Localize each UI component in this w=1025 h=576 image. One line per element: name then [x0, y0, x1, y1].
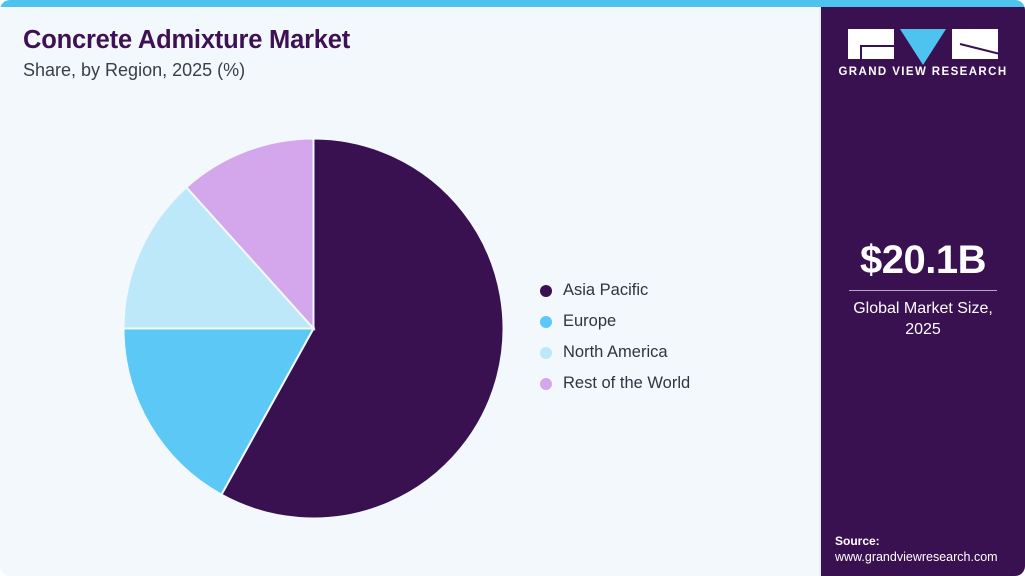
source-label: Source: [835, 534, 1017, 548]
logo-wordmark: GRAND VIEW RESEARCH [821, 66, 1025, 78]
legend-item-europe[interactable]: Europe [540, 306, 800, 337]
legend-swatch-asia-pacific [540, 285, 552, 297]
infographic-card: Concrete Admixture Market Share, by Regi… [0, 0, 1025, 576]
stat-caption: Global Market Size, 2025 [835, 299, 1011, 341]
pie-chart-svg [123, 138, 504, 519]
letter-v-triangle-icon [900, 29, 946, 65]
stat-value: $20.1B [835, 239, 1011, 281]
legend-swatch-rest-of-the-world [540, 378, 552, 390]
source-url[interactable]: www.grandviewresearch.com [835, 550, 1017, 564]
legend-label-north-america: North America [563, 343, 668, 362]
page-subtitle: Share, by Region, 2025 (%) [23, 60, 783, 82]
legend-item-rest-of-the-world[interactable]: Rest of the World [540, 368, 800, 399]
brand-panel: GRAND VIEW RESEARCH $20.1B Global Market… [819, 7, 1025, 576]
pie-chart [123, 138, 504, 519]
stat-divider [849, 290, 997, 291]
legend-label-rest-of-the-world: Rest of the World [563, 374, 690, 393]
brand-logo: GRAND VIEW RESEARCH [821, 29, 1025, 78]
letter-g-icon [848, 29, 894, 59]
legend-item-asia-pacific[interactable]: Asia Pacific [540, 275, 800, 306]
legend-label-asia-pacific: Asia Pacific [563, 281, 648, 300]
chart-panel: Concrete Admixture Market Share, by Regi… [0, 7, 821, 576]
top-accent-bar [0, 0, 1025, 7]
chart-legend: Asia Pacific Europe North America Rest o… [540, 275, 800, 399]
page-title: Concrete Admixture Market [23, 26, 783, 55]
legend-swatch-north-america [540, 347, 552, 359]
letter-r-icon [952, 29, 998, 59]
title-block: Concrete Admixture Market Share, by Regi… [23, 26, 783, 82]
legend-swatch-europe [540, 316, 552, 328]
legend-label-europe: Europe [563, 312, 616, 331]
logo-marks [821, 29, 1025, 59]
legend-item-north-america[interactable]: North America [540, 337, 800, 368]
pie-slice-group [124, 139, 504, 519]
stat-block: $20.1B Global Market Size, 2025 [835, 239, 1011, 341]
source-block: Source: www.grandviewresearch.com [835, 534, 1017, 564]
